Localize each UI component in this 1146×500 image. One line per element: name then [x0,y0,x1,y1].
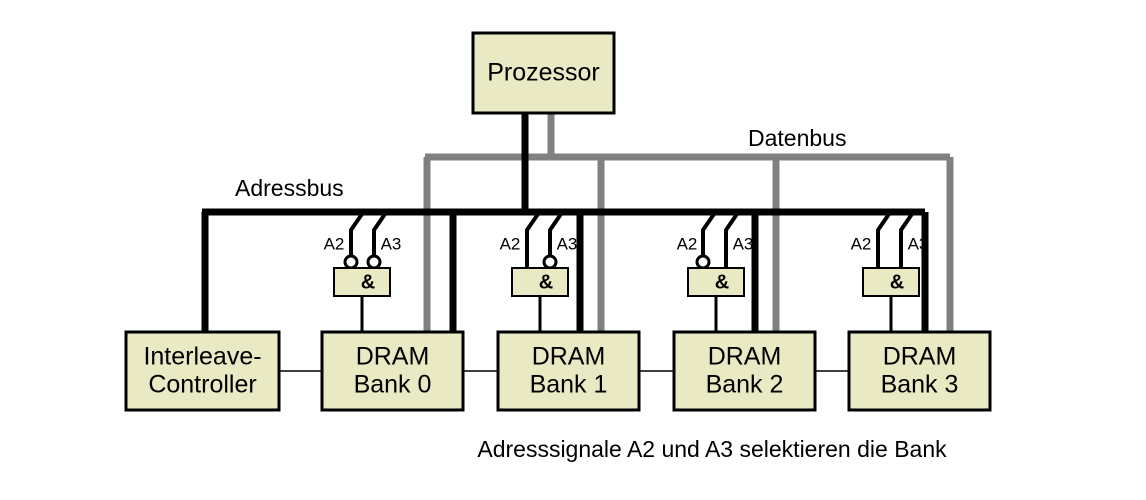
signal-label-a3-2: A3 [733,234,754,253]
switch-contact-a2-2[interactable] [703,214,714,256]
address-bus-label: Adressbus [235,175,344,201]
switch-contact-a2-3[interactable] [878,214,889,268]
diagram-canvas: ProzessorInterleave-ControllerDRAMBank 0… [0,0,1146,500]
data-bus-label: Datenbus [748,125,846,151]
and-gate-glyph-0: & [361,271,375,293]
signal-label-a3-0: A3 [381,234,402,253]
inverter-bubble-a2-0 [345,256,357,268]
processor-label: Prozessor [487,59,600,87]
signal-label-a3-1: A3 [557,234,578,253]
switch-contact-a2-0[interactable] [351,214,362,256]
dram-bank-label-line2-0: Bank 0 [354,371,432,399]
and-gate-glyph-1: & [539,271,553,293]
and-gate-glyph-2: & [715,271,729,293]
inverter-bubble-a3-1 [544,256,556,268]
data-bus-layer [425,113,950,332]
signal-label-a2-3: A2 [851,234,872,253]
dram-bank-label-line1-1: DRAM [532,343,606,371]
dram-bank-label-line1-2: DRAM [708,343,782,371]
signal-label-a2-1: A2 [500,234,521,253]
diagram-caption: Adresssignale A2 und A3 selektieren die … [477,436,947,462]
dram-bank-label-line1-0: DRAM [356,343,430,371]
switch-contact-a2-1[interactable] [527,214,538,268]
dram-bank-label-line2-1: Bank 1 [530,371,608,399]
signal-label-a3-3: A3 [908,234,929,253]
signal-label-a2-0: A2 [324,234,345,253]
inverter-bubble-a3-0 [368,256,380,268]
dram-bank-label-line2-2: Bank 2 [706,371,784,399]
interleave-controller-label-line1: Interleave- [143,343,261,371]
interleaving-diagram: ProzessorInterleave-ControllerDRAMBank 0… [0,0,1146,500]
switch-layer [334,214,919,332]
interleave-controller-label-line2: Controller [148,371,256,399]
and-gate-glyph-3: & [890,271,904,293]
inverter-bubble-a2-2 [697,256,709,268]
dram-bank-label-line1-3: DRAM [883,343,957,371]
signal-label-a2-2: A2 [677,234,698,253]
dram-bank-label-line2-3: Bank 3 [881,371,959,399]
